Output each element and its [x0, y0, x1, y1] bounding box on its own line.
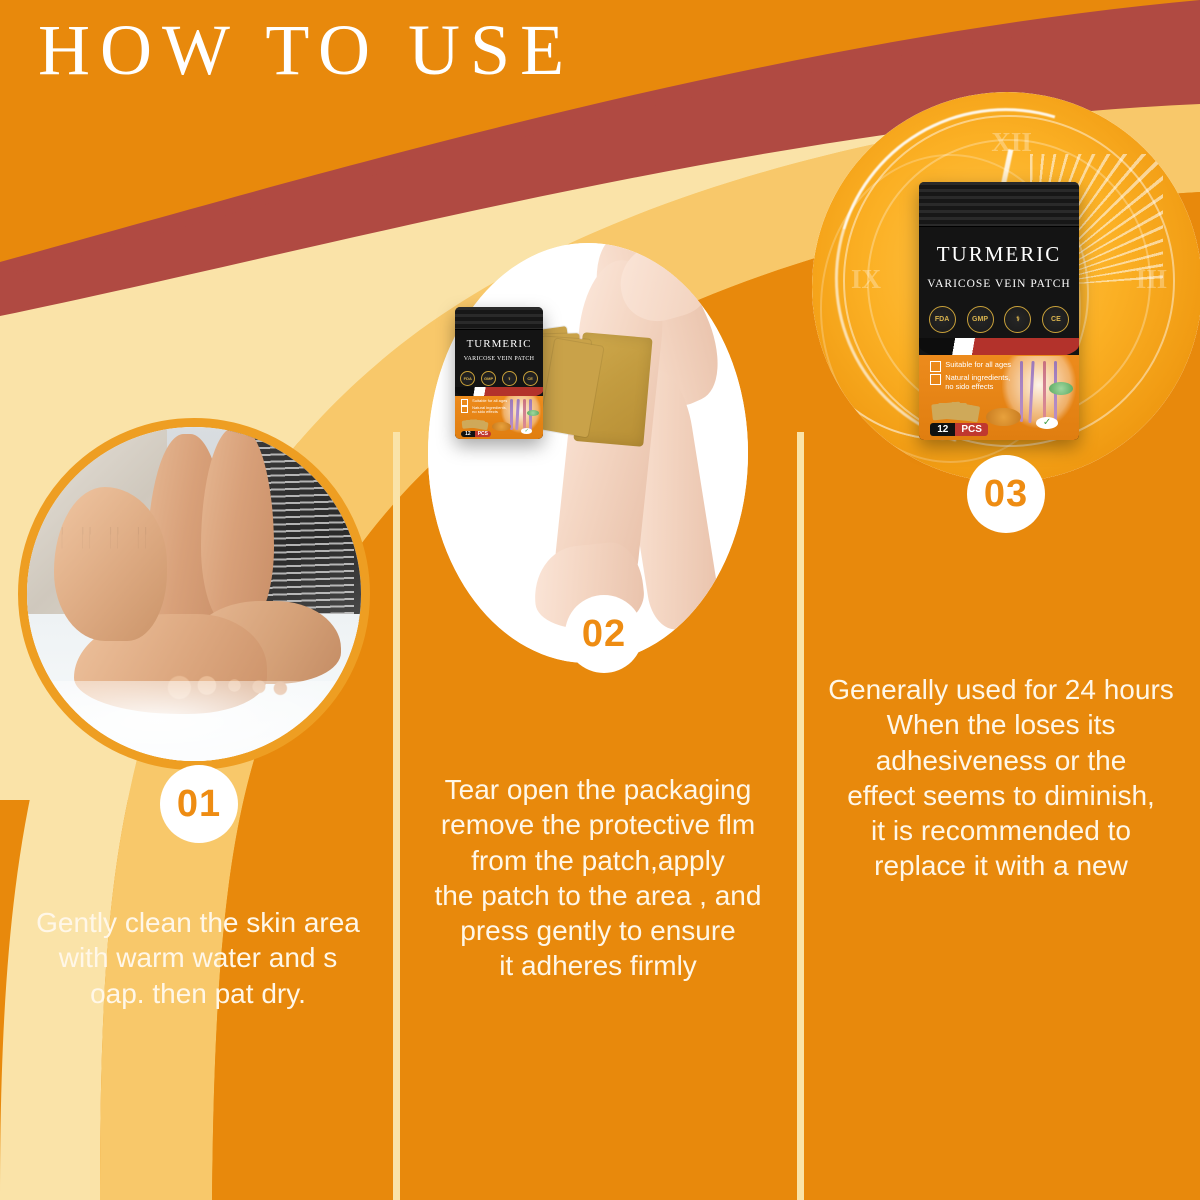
cert-fda-icon: FDA: [460, 371, 475, 386]
cert-caduceus-icon: ⚕: [502, 371, 517, 386]
cert-gmp-icon: GMP: [481, 371, 496, 386]
step-1-number: 01: [160, 765, 238, 843]
package-body-small: TURMERIC VARICOSE VEIN PATCH FDA GMP ⚕ C…: [455, 330, 543, 439]
checkbox-icon: [461, 406, 468, 413]
package-certifications: FDA GMP ⚕ CE: [929, 306, 1070, 333]
step-3-number: 03: [967, 455, 1045, 533]
check-badge-icon: ✓: [1036, 417, 1058, 429]
package-title: TURMERIC: [919, 242, 1079, 267]
checkbox-icon: [930, 374, 941, 385]
package-body: TURMERIC VARICOSE VEIN PATCH FDA GMP ⚕ C…: [919, 227, 1079, 440]
step-3-caption: Generally used for 24 hours When the los…: [806, 672, 1196, 884]
package-count-unit: PCS: [955, 423, 988, 436]
package-certifications-small: FDA GMP ⚕ CE: [460, 371, 537, 386]
package-zip-top-small: [455, 307, 543, 330]
cert-ce-icon: CE: [523, 371, 538, 386]
feature-text: Suitable for all ages: [945, 361, 1011, 369]
step-2-number: 02: [565, 595, 643, 673]
package-title-small: TURMERIC: [455, 338, 543, 350]
package-feature-2: Natural ingredients, no sido effects: [930, 374, 1010, 391]
clock-numeral-iii: III: [1136, 264, 1168, 295]
cert-caduceus-icon: ⚕: [1004, 306, 1031, 333]
product-package-small: TURMERIC VARICOSE VEIN PATCH FDA GMP ⚕ C…: [455, 307, 543, 439]
patch-stack: [932, 403, 983, 422]
infographic-root: HOW TO USE 01 Gently clean the skin area…: [0, 0, 1200, 1200]
package-count-small: 12 PCS: [461, 431, 491, 437]
step-1-image: [18, 418, 370, 770]
check-badge-icon-small: ✓: [521, 428, 532, 434]
shower-scene: [27, 427, 361, 761]
package-count: 12 PCS: [930, 423, 988, 436]
checkbox-icon: [461, 399, 468, 406]
column-divider-right: [797, 432, 804, 1200]
package-subtitle-small: VARICOSE VEIN PATCH: [455, 356, 543, 362]
fingers: [57, 527, 164, 641]
package-count-unit: PCS: [475, 431, 491, 437]
page-title: HOW TO USE: [38, 14, 574, 86]
leaf-badge-icon: [1049, 382, 1073, 395]
water-foam: [18, 681, 370, 770]
package-orange-panel-small: Suitable for all ages Natural ingredient…: [455, 396, 543, 439]
cert-gmp-icon: GMP: [967, 306, 994, 333]
package-feature-1: Suitable for all ages: [930, 361, 1011, 372]
package-zip-top: [919, 182, 1079, 227]
package-orange-panel: Suitable for all ages Natural ingredient…: [919, 355, 1079, 440]
step-1-caption: Gently clean the skin area with warm wat…: [6, 905, 390, 1011]
patch-stack-small: [462, 420, 490, 430]
step-2-caption: Tear open the packaging remove the prote…: [404, 772, 792, 984]
package-count-number: 12: [461, 431, 475, 437]
cert-fda-icon: FDA: [929, 306, 956, 333]
package-count-number: 12: [930, 423, 955, 436]
clock-numeral-ix: IX: [851, 264, 881, 295]
feature-text: Natural ingredients, no sido effects: [945, 374, 1010, 391]
column-divider-left: [393, 432, 400, 1200]
cert-ce-icon: CE: [1042, 306, 1069, 333]
checkbox-icon: [930, 361, 941, 372]
package-subtitle: VARICOSE VEIN PATCH: [919, 278, 1079, 290]
product-package-large: TURMERIC VARICOSE VEIN PATCH FDA GMP ⚕ C…: [919, 182, 1079, 440]
